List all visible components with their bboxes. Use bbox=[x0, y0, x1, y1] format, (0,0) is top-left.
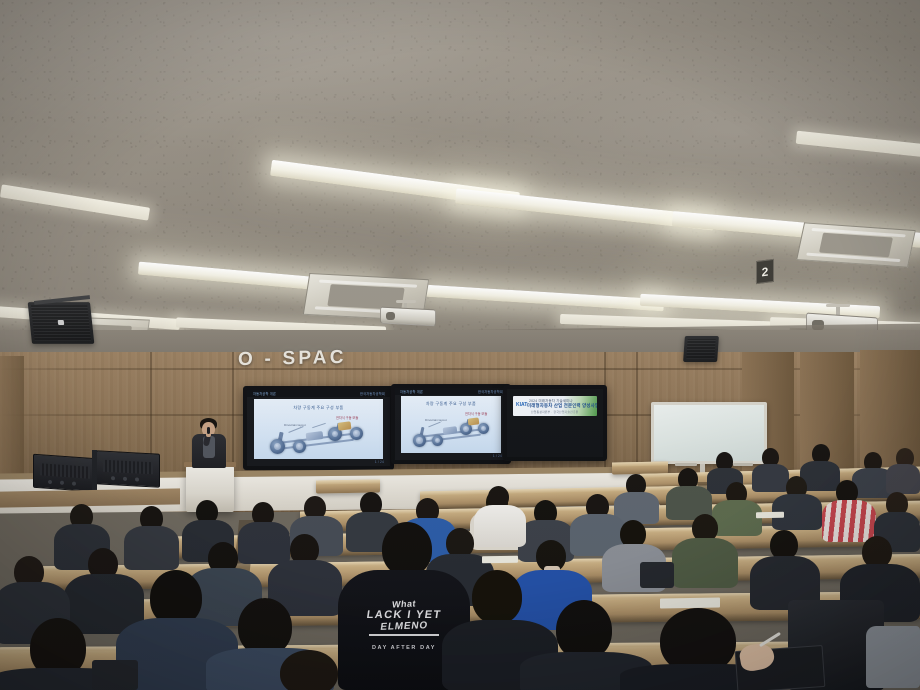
monitor-stand bbox=[92, 450, 97, 492]
presenter bbox=[186, 418, 234, 472]
jacket-text-line-4: DAY AFTER DAY bbox=[352, 646, 456, 652]
paper-sheet bbox=[482, 556, 518, 564]
banner-line-3: 산업통상자원부 · 한국산업기술진흥원 bbox=[531, 410, 578, 414]
slide-title: 차량 구동계 주요 구성 부품 bbox=[254, 405, 383, 411]
attendee-torso bbox=[672, 538, 738, 588]
whiteboard-tray bbox=[675, 463, 697, 466]
av-desk bbox=[0, 488, 180, 507]
display-left-header-tag: 자동차공학 개론 bbox=[253, 391, 276, 396]
attendee-torso bbox=[712, 500, 762, 536]
display-left: 자동차공학 개론 한국자동차공학회 차량 구동계 주요 구성 부품 전자식 구동… bbox=[243, 386, 394, 470]
chair bbox=[640, 562, 674, 588]
ceiling-zone-sign: 2 bbox=[756, 259, 774, 284]
wall-speaker bbox=[683, 336, 719, 362]
display-center-header-tag: 자동차공학 개론 bbox=[400, 389, 423, 394]
white-puffer-attendee bbox=[474, 505, 526, 547]
av-monitor bbox=[96, 450, 160, 487]
display-center-corner-tag: 한국자동차공학회 bbox=[478, 389, 503, 394]
slide-note: Drivetrain layout bbox=[284, 423, 306, 427]
slide-note: Drivetrain layout bbox=[425, 418, 447, 422]
av-monitor bbox=[33, 454, 97, 492]
wall-speaker bbox=[28, 302, 95, 344]
display-center-slide: 차량 구동계 주요 구성 부품 전자식 구동 모듈 Drivetrain lay… bbox=[401, 396, 501, 453]
attendee-head bbox=[472, 570, 522, 624]
banner-logo: KIAT bbox=[516, 402, 527, 408]
slide-subtitle: 전자식 구동 모듈 bbox=[465, 411, 487, 416]
jacket-text-line-3: ELMENO bbox=[351, 620, 456, 634]
attendee-head bbox=[280, 650, 338, 690]
lecture-hall-photo: 2 O - SPAC 자동차공학 개론 한국자동차공학회 차량 구동계 주요 구… bbox=[0, 0, 920, 690]
display-left-footer-tag: 1 / 24 bbox=[375, 460, 384, 464]
ceiling-projector bbox=[380, 300, 434, 326]
microphone bbox=[207, 427, 210, 434]
featured-jacket-attendee-head bbox=[382, 522, 432, 576]
clothing-item bbox=[866, 626, 920, 688]
slide-subtitle: 전자식 구동 모듈 bbox=[336, 415, 358, 420]
striped-shirt-attendee bbox=[822, 500, 876, 542]
event-banner: KIAT 2024 미래자동차 기술세미나 미래형자동차 산업 전문인력 양성사… bbox=[513, 396, 597, 416]
ceiling-ac-cassette bbox=[796, 222, 916, 267]
attendee-torso bbox=[124, 526, 179, 570]
attendee-head bbox=[556, 600, 612, 660]
attendee-torso bbox=[752, 464, 789, 492]
paper-sheet bbox=[660, 597, 720, 608]
attendee-torso bbox=[886, 464, 920, 494]
ceiling-zone-number: 2 bbox=[762, 264, 769, 279]
display-center: 자동차공학 개론 한국자동차공학회 차량 구동계 주요 구성 부품 전자식 구동… bbox=[391, 384, 511, 464]
whiteboard bbox=[651, 402, 767, 464]
paper-sheet bbox=[756, 512, 784, 518]
whiteboard-surface bbox=[654, 405, 764, 461]
display-center-footer-tag: 1 / 24 bbox=[493, 454, 502, 458]
chair bbox=[92, 660, 138, 690]
jacket-graphic-print: What LACK I YET ELMENO DAY AFTER DAY bbox=[352, 600, 456, 652]
jacket-print-underline bbox=[369, 634, 439, 636]
attendee-torso bbox=[238, 522, 290, 564]
slide-title: 차량 구동계 주요 구성 부품 bbox=[401, 401, 501, 407]
display-left-corner-tag: 한국자동차공학회 bbox=[360, 391, 385, 396]
banner-line-2: 미래형자동차 산업 전문인력 양성사업 bbox=[527, 403, 597, 409]
display-right: KIAT 2024 미래자동차 기술세미나 미래형자동차 산업 전문인력 양성사… bbox=[503, 385, 607, 461]
venue-sign-ospac: O - SPAC bbox=[238, 347, 347, 371]
display-left-slide: 차량 구동계 주요 구성 부품 전자식 구동 모듈 Drivetrain lay… bbox=[254, 399, 383, 459]
whiteboard-tray bbox=[733, 463, 753, 466]
